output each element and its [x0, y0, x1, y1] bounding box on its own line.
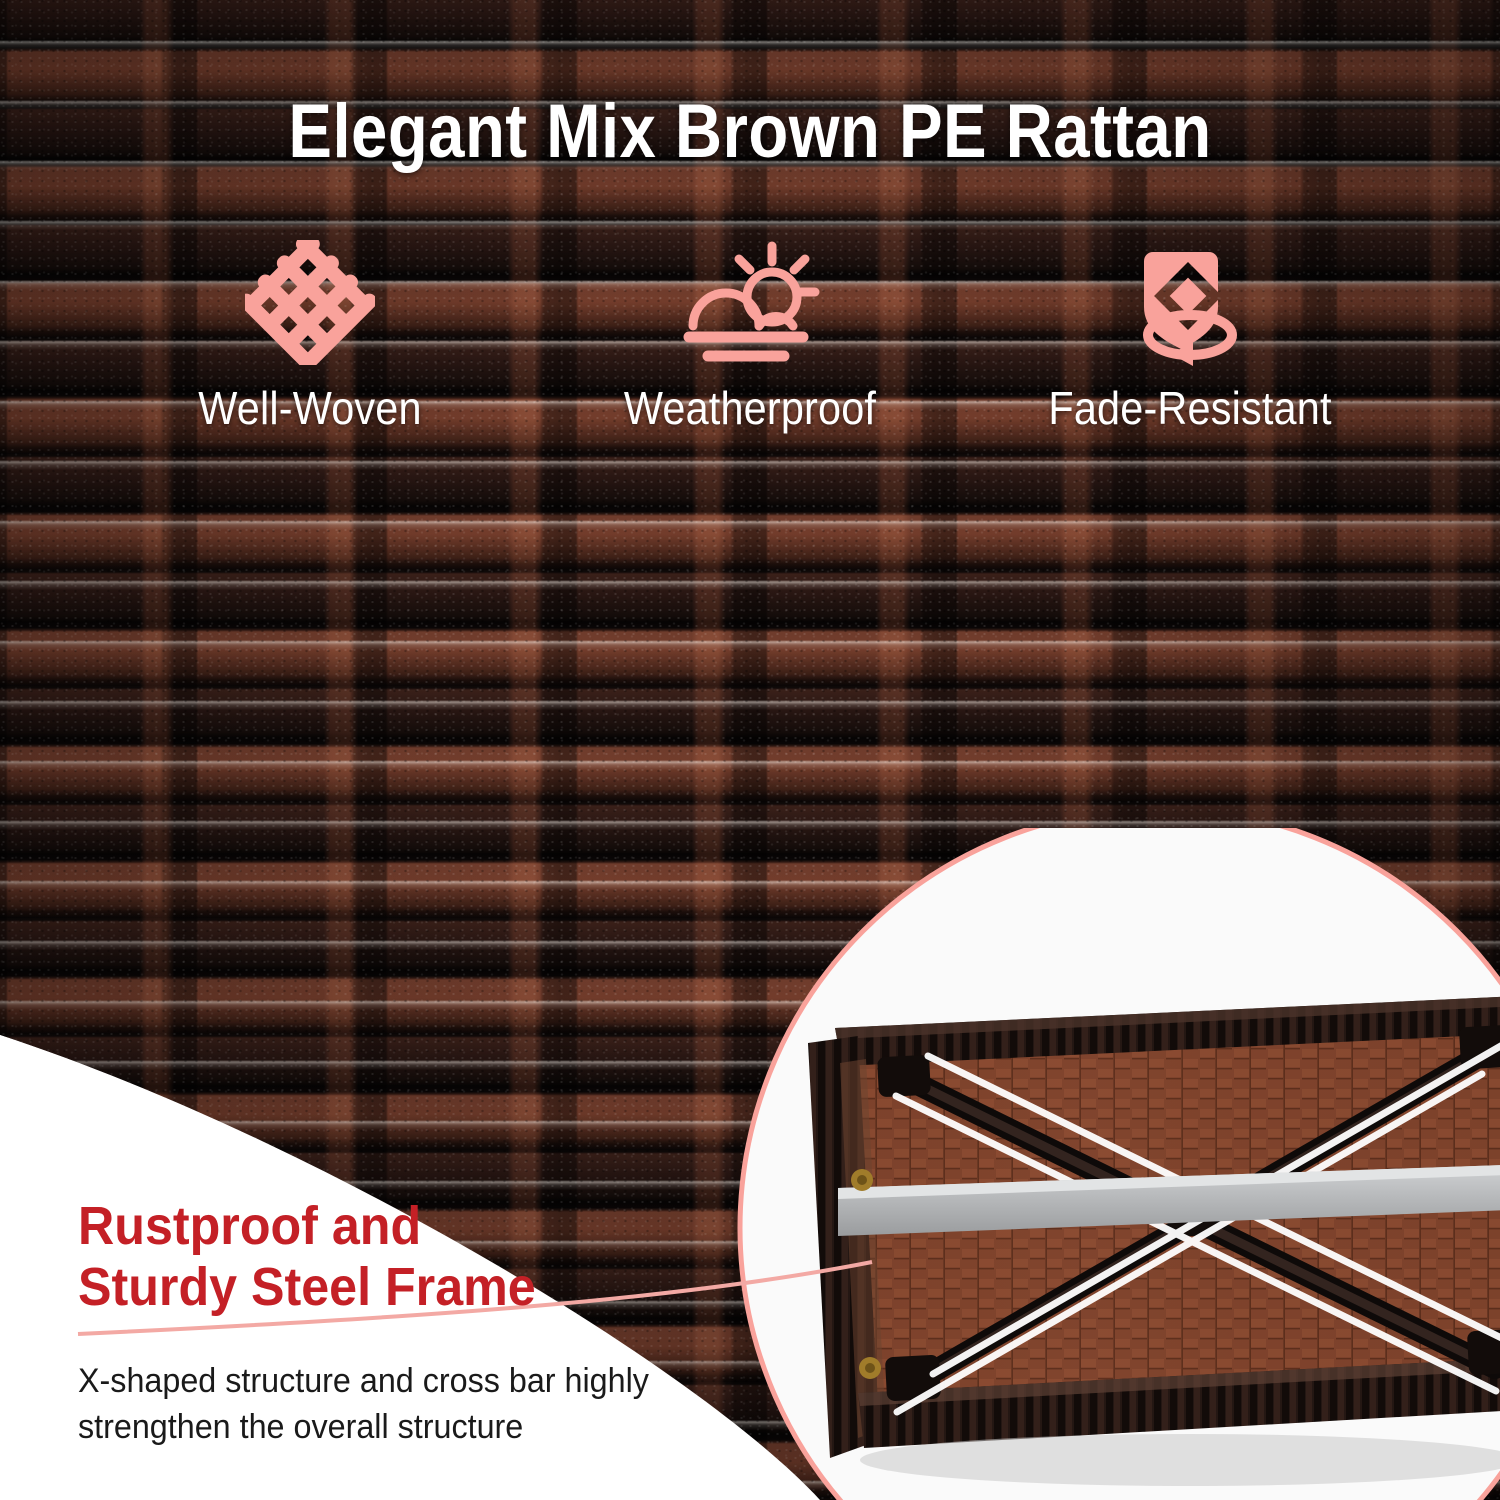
- callout-body: X-shaped structure and cross bar highly …: [78, 1358, 705, 1450]
- shield-rotate-icon: [980, 240, 1400, 365]
- sun-cloud-icon: [540, 240, 960, 365]
- callout-heading-block: Rustproof and Sturdy Steel Frame: [78, 1196, 778, 1318]
- woven-lattice-icon: [100, 240, 520, 365]
- product-infographic-poster: Elegant Mix Brown PE Rattan: [0, 0, 1500, 1500]
- feature-item-fade-resistant: Fade-Resistant: [980, 240, 1400, 435]
- feature-label-fade-resistant: Fade-Resistant: [1001, 381, 1379, 435]
- chair-underside-inset: [690, 828, 1500, 1500]
- feature-label-well-woven: Well-Woven: [121, 381, 499, 435]
- feature-item-well-woven: Well-Woven: [100, 240, 520, 435]
- page-title: Elegant Mix Brown PE Rattan: [105, 88, 1395, 175]
- feature-list: Well-Woven: [100, 240, 1400, 435]
- callout-heading: Rustproof and Sturdy Steel Frame: [78, 1196, 729, 1318]
- feature-label-weatherproof: Weatherproof: [561, 381, 939, 435]
- inset-photo-content: [690, 828, 1500, 1500]
- feature-item-weatherproof: Weatherproof: [540, 240, 960, 435]
